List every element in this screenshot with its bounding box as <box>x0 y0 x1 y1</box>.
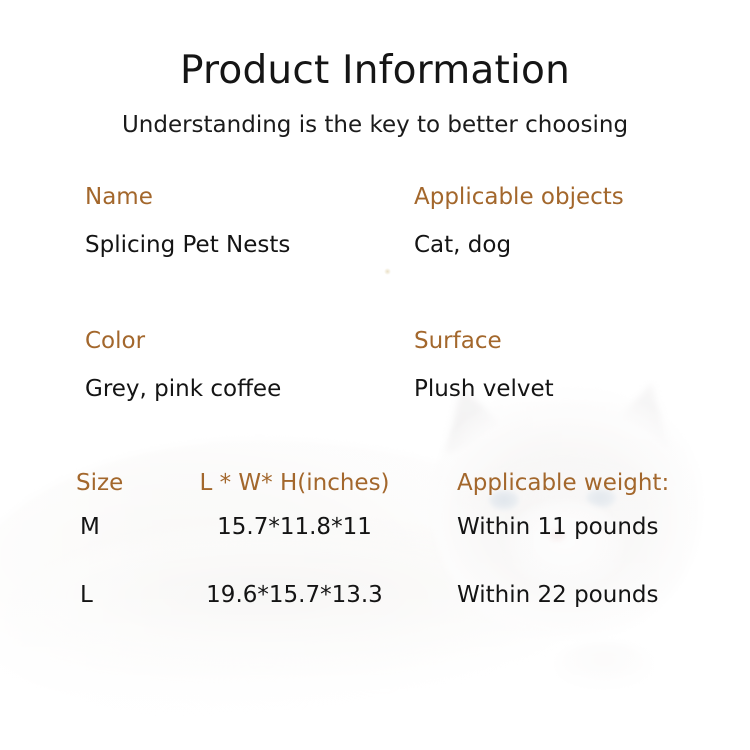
field-applicable-objects-label: Applicable objects <box>414 184 624 210</box>
row-size-value: M <box>0 514 152 540</box>
size-table-header-row: Size L * W* H(inches) Applicable weight: <box>0 470 750 514</box>
row-dimensions-value: 19.6*15.7*13.3 <box>152 582 437 608</box>
dimensions-column-header: L * W* H(inches) <box>152 470 437 496</box>
field-applicable-objects: Applicable objects Cat, dog <box>414 184 624 258</box>
field-name-value: Splicing Pet Nests <box>85 232 290 258</box>
field-applicable-objects-value: Cat, dog <box>414 232 624 258</box>
page-title: Product Information <box>0 48 750 93</box>
table-row: M 15.7*11.8*11 Within 11 pounds <box>0 514 750 582</box>
field-name-label: Name <box>85 184 290 210</box>
row-weight-value: Within 22 pounds <box>437 582 750 608</box>
field-surface: Surface Plush velvet <box>414 328 554 402</box>
size-column-header: Size <box>0 470 152 496</box>
field-color: Color Grey, pink coffee <box>85 328 281 402</box>
field-color-value: Grey, pink coffee <box>85 376 281 402</box>
field-surface-label: Surface <box>414 328 554 354</box>
page-subtitle: Understanding is the key to better choos… <box>0 112 750 138</box>
field-color-label: Color <box>85 328 281 354</box>
row-size-value: L <box>0 582 152 608</box>
table-row: L 19.6*15.7*13.3 Within 22 pounds <box>0 582 750 622</box>
row-weight-value: Within 11 pounds <box>437 514 750 540</box>
row-dimensions-value: 15.7*11.8*11 <box>152 514 437 540</box>
field-name: Name Splicing Pet Nests <box>85 184 290 258</box>
weight-column-header: Applicable weight: <box>437 470 750 496</box>
product-information-graphic: Product Information Understanding is the… <box>0 0 750 750</box>
field-surface-value: Plush velvet <box>414 376 554 402</box>
size-table: Size L * W* H(inches) Applicable weight:… <box>0 470 750 622</box>
